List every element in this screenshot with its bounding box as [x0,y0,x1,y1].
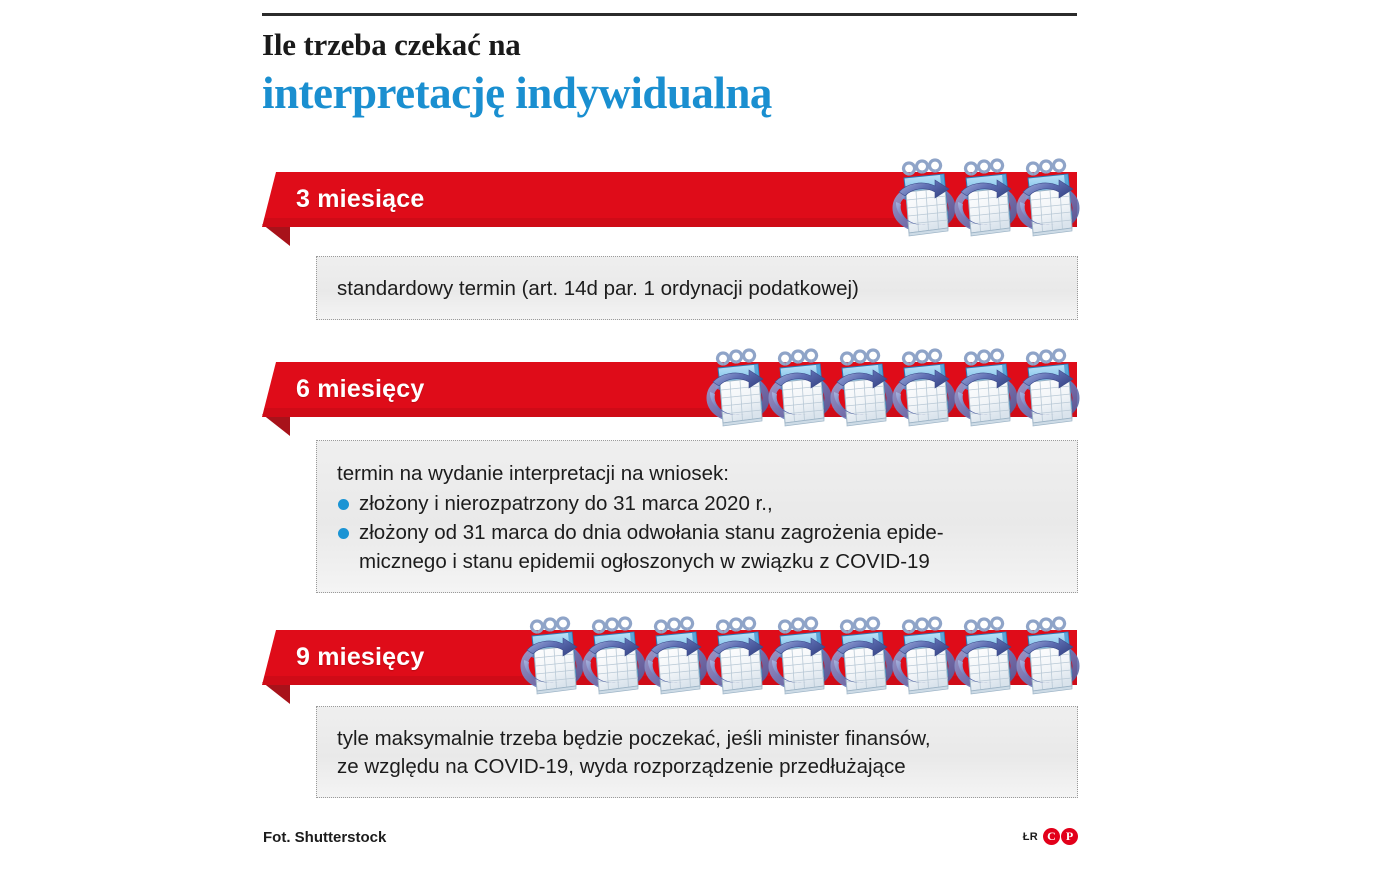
title-line-highlight: interpretację indywidualną [262,66,1122,120]
description-text: tyle maksymalnie trzeba będzie poczekać,… [337,725,1057,781]
banner-fold-shape [262,414,290,436]
list-item: złożony od 31 marca do dnia odwołania st… [337,518,1057,576]
banner-label-6-months: 6 miesięcy [296,374,425,404]
list-item-label: złożony i nierozpatrzony do 31 marca 202… [359,492,773,515]
list-item: złożony i nierozpatrzony do 31 marca 202… [337,489,1057,518]
calendar-sync-icon [705,616,771,698]
photo-credit: Fot. Shutterstock [263,829,386,846]
banner-9-months: 9 miesięcy [0,630,1400,706]
calendar-sync-icon [581,616,647,698]
description-bullet-list: złożony i nierozpatrzony do 31 marca 202… [337,489,1057,576]
banner-fold-shape [262,224,290,246]
calendar-sync-icon [643,616,709,698]
calendar-icons-row-9 [519,616,1081,698]
calendar-sync-icon [1015,616,1081,698]
infographic-page: Ile trzeba czekać na interpretację indyw… [0,0,1400,870]
banner-fold-shape [262,682,290,704]
calendar-sync-icon [891,348,957,430]
calendar-sync-icon [953,158,1019,240]
calendar-sync-icon [829,616,895,698]
section-3-months: 3 miesiące [0,172,1400,248]
calendar-sync-icon [891,616,957,698]
title-line-primary: Ile trzeba czekać na [262,26,1122,64]
description-box-3-months: standardowy termin (art. 14d par. 1 ordy… [316,256,1078,320]
footer-attribution: ŁR C P [1023,828,1078,845]
calendar-icons-row-3 [891,158,1081,240]
page-title: Ile trzeba czekać na interpretację indyw… [262,26,1122,120]
calendar-sync-icon [519,616,585,698]
calendar-sync-icon [953,616,1019,698]
section-9-months: 9 miesięcy [0,630,1400,706]
calendar-sync-icon [953,348,1019,430]
banner-label-3-months: 3 miesiące [296,184,425,214]
list-item-label: złożony od 31 marca do dnia odwołania st… [359,521,944,573]
banner-3-months: 3 miesiące [0,172,1400,248]
banner-label-9-months: 9 miesięcy [296,642,425,672]
calendar-sync-icon [767,616,833,698]
phonogram-p-icon: P [1061,828,1078,845]
calendar-sync-icon [829,348,895,430]
calendar-sync-icon [1015,348,1081,430]
banner-6-months: 6 miesięcy [0,362,1400,438]
description-box-9-months: tyle maksymalnie trzeba będzie poczekać,… [316,706,1078,798]
bullet-dot-icon [338,499,349,510]
description-text: standardowy termin (art. 14d par. 1 ordy… [337,275,1057,303]
calendar-sync-icon [1015,158,1081,240]
calendar-sync-icon [767,348,833,430]
author-initials: ŁR [1023,831,1038,843]
section-6-months: 6 miesięcy [0,362,1400,438]
calendar-sync-icon [891,158,957,240]
top-divider-rule [262,13,1077,16]
description-lead: termin na wydanie interpretacji na wnios… [337,459,1057,488]
description-box-6-months: termin na wydanie interpretacji na wnios… [316,440,1078,593]
copyright-mark: C P [1043,828,1078,845]
bullet-dot-icon [338,528,349,539]
calendar-sync-icon [705,348,771,430]
copyright-c-icon: C [1043,828,1060,845]
calendar-icons-row-6 [705,348,1081,430]
